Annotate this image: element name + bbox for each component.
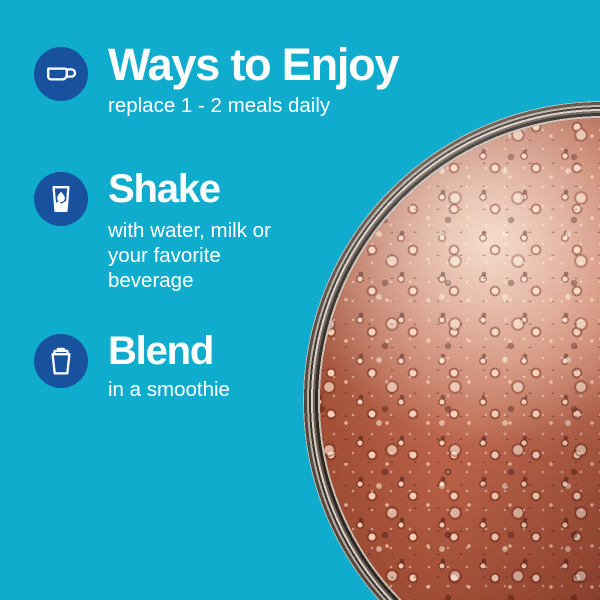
glass-of-water-icon-badge [34, 172, 88, 226]
smoothie-shading [303, 101, 600, 600]
shake-text: Shake with water, milk or your favorite … [108, 172, 271, 293]
section-heading: Shake [108, 169, 271, 209]
section-subtext: in a smoothie [108, 378, 230, 402]
mug-icon-badge [34, 47, 88, 101]
blend-text: Blend in a smoothie [108, 334, 230, 402]
section-subtext: replace 1 - 2 meals daily [108, 95, 398, 118]
smoothie-bowl-photo [303, 101, 600, 600]
section-ways-to-enjoy: Ways to Enjoy replace 1 - 2 meals daily [34, 47, 398, 118]
shaker-bottle-icon [44, 344, 78, 378]
section-blend: Blend in a smoothie [34, 334, 230, 402]
glass-of-water-icon [44, 182, 78, 216]
shaker-bottle-icon-badge [34, 334, 88, 388]
section-heading: Ways to Enjoy [108, 42, 398, 87]
section-shake: Shake with water, milk or your favorite … [34, 172, 271, 293]
mug-icon [44, 57, 78, 91]
subtext-line: with water, milk or [108, 218, 271, 243]
promo-graphic: Ways to Enjoy replace 1 - 2 meals daily … [0, 0, 600, 600]
subtext-line: beverage [108, 268, 271, 293]
subtext-line: your favorite [108, 243, 271, 268]
section-subtext: with water, milk or your favorite bevera… [108, 218, 271, 293]
section-heading: Blend [108, 331, 230, 371]
ways-to-enjoy-text: Ways to Enjoy replace 1 - 2 meals daily [108, 47, 398, 118]
